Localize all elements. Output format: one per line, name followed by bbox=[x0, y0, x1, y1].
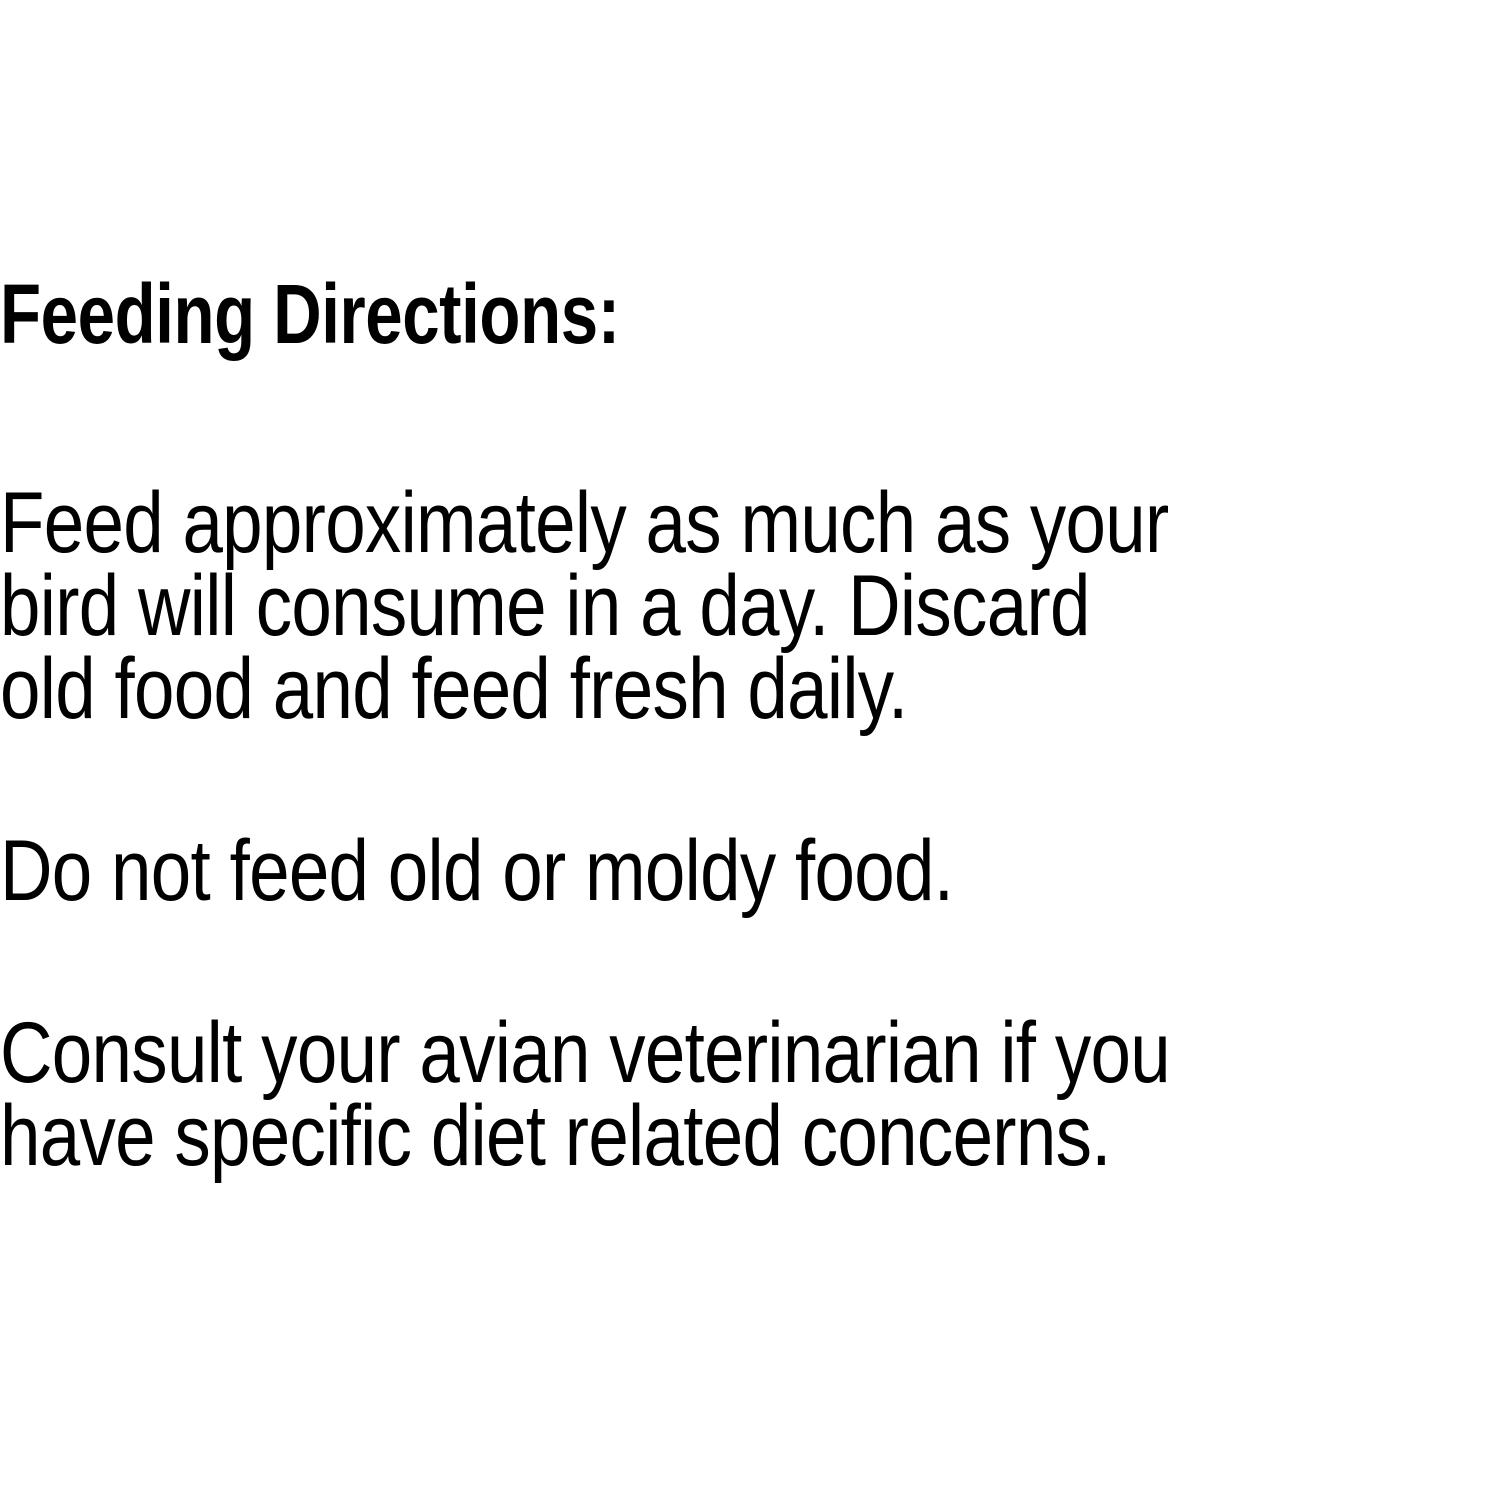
body-line: old food and feed fresh daily. bbox=[0, 648, 1268, 731]
body-line: bird will consume in a day. Discard bbox=[0, 565, 1268, 648]
body-line: Consult your avian veterinarian if you bbox=[0, 1012, 1268, 1095]
page-title: Feeding Directions: bbox=[0, 268, 1200, 360]
heading-spacer bbox=[0, 360, 1500, 482]
body-line: Feed approximately as much as your bbox=[0, 482, 1268, 565]
feeding-directions-panel: Feeding Directions: Feed approximately a… bbox=[0, 0, 1500, 1500]
paragraph-spacer bbox=[0, 913, 1500, 1012]
paragraph-spoilage-warning: Do not feed old or moldy food. bbox=[0, 830, 1500, 913]
paragraph-feeding-amount: Feed approximately as much as your bird … bbox=[0, 482, 1500, 731]
body-line: have specific diet related concerns. bbox=[0, 1095, 1268, 1178]
body-line: Do not feed old or moldy food. bbox=[0, 830, 1268, 913]
paragraph-spacer bbox=[0, 731, 1500, 830]
paragraph-veterinarian-advice: Consult your avian veterinarian if you h… bbox=[0, 1012, 1500, 1178]
label-content: Feeding Directions: Feed approximately a… bbox=[0, 268, 1500, 1178]
